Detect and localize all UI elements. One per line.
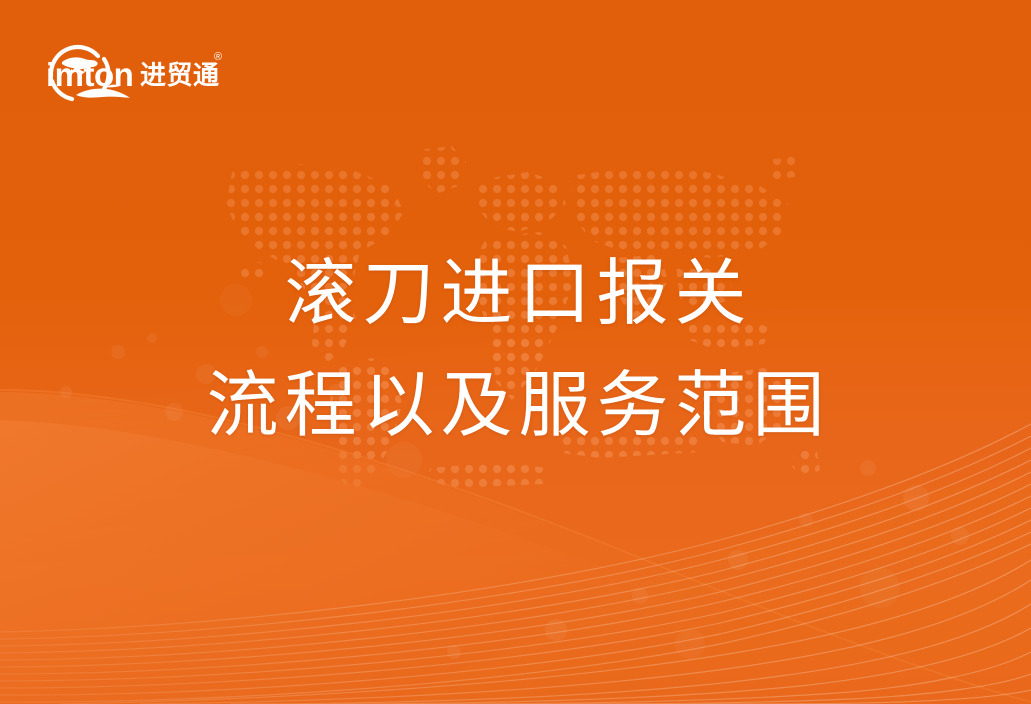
brand-logo[interactable]: imton 进贸通 ® bbox=[38, 26, 228, 102]
registered-trademark-icon: ® bbox=[214, 51, 222, 63]
title-line-2: 流程以及服务范围 bbox=[0, 370, 1031, 442]
brand-latin-wordmark: imton bbox=[46, 56, 133, 93]
promotional-banner: imton 进贸通 ® 滚刀进口报关 流程以及服务范围 bbox=[0, 0, 1031, 704]
title-line-1: 滚刀进口报关 bbox=[0, 258, 1031, 330]
brand-chinese-wordmark: 进贸通 bbox=[140, 60, 220, 90]
page-title: 滚刀进口报关 流程以及服务范围 bbox=[0, 258, 1031, 442]
